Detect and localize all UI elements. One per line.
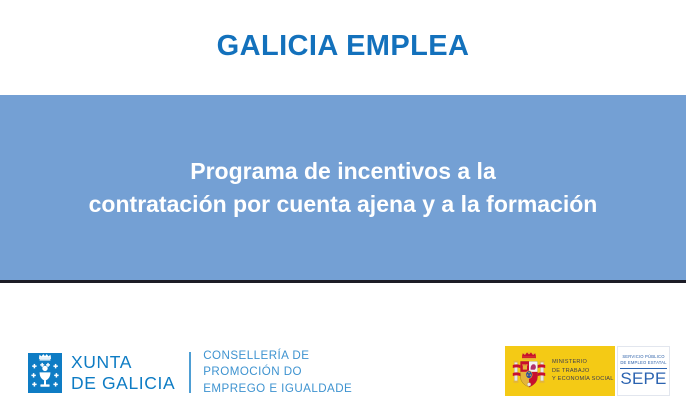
ministerio-trabajo-logo: MINISTERIO DE TRABAJO Y ECONOMÍA SOCIAL: [505, 346, 615, 396]
banner-line-1: Programa de incentivos a la: [190, 158, 496, 184]
xunta-galicia-coat-of-arms-icon: [28, 353, 62, 393]
footer-logo-area: XUNTA DE GALICIA CONSELLERÍA DE PROMOCIÓ…: [0, 286, 686, 410]
xunta-wordmark-line-1: XUNTA: [71, 352, 175, 372]
sepe-subtitle: SERVICIO PÚBLICO DE EMPLEO ESTATAL: [620, 354, 666, 367]
program-banner: Programa de incentivos a la contratación…: [0, 95, 686, 283]
logo-divider: [189, 352, 191, 393]
ministerio-line-2: DE TRABAJO: [552, 367, 614, 376]
sepe-subtitle-line-2: DE EMPLEO ESTATAL: [620, 360, 666, 366]
xunta-wordmark-line-2: DE GALICIA: [71, 373, 175, 393]
conselleria-wordmark: CONSELLERÍA DE PROMOCIÓN DO EMPREGO E IG…: [203, 348, 352, 397]
conselleria-line-2: PROMOCIÓN DO: [203, 364, 352, 380]
ministerio-line-1: MINISTERIO: [552, 358, 614, 367]
ministerio-wordmark: MINISTERIO DE TRABAJO Y ECONOMÍA SOCIAL: [552, 358, 614, 384]
xunta-de-galicia-logo: XUNTA DE GALICIA CONSELLERÍA DE PROMOCIÓ…: [28, 348, 352, 397]
banner-line-2: contratación por cuenta ajena y a la for…: [89, 188, 598, 221]
conselleria-line-1: CONSELLERÍA DE: [203, 348, 352, 364]
ministerio-line-3: Y ECONOMÍA SOCIAL: [552, 375, 614, 384]
sepe-wordmark: SEPE: [620, 368, 666, 388]
page-title: GALICIA EMPLEA: [0, 30, 686, 63]
conselleria-line-3: EMPREGO E IGUALDADE: [203, 381, 352, 397]
header-area: GALICIA EMPLEA: [0, 0, 686, 95]
spain-coat-of-arms-icon: [511, 350, 547, 392]
xunta-wordmark: XUNTA DE GALICIA: [71, 352, 175, 393]
banner-text-block: Programa de incentivos a la contratación…: [71, 155, 616, 220]
sepe-logo: SERVICIO PÚBLICO DE EMPLEO ESTATAL SEPE: [617, 346, 670, 396]
